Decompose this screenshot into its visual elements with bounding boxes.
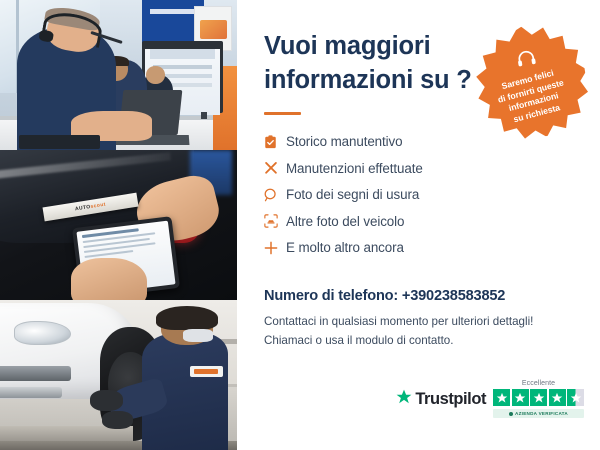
request-info-badge: Saremo felici di fornirti queste informa… xyxy=(466,18,594,146)
contact-subtext: Contattaci in qualsiasi momento per ulte… xyxy=(264,313,578,351)
feature-label: Storico manutentivo xyxy=(286,134,402,149)
trustpilot-wordmark: Trustpilot xyxy=(415,390,486,409)
vehicle-inspection-photo: AUTOscout xyxy=(0,150,237,300)
feature-label: Altre foto del veicolo xyxy=(286,214,404,229)
promo-banner: AUTOscout xyxy=(0,0,600,450)
title-divider xyxy=(264,112,301,115)
plus-icon xyxy=(264,241,286,255)
headline-line-1: Vuoi maggiori xyxy=(264,32,430,60)
trustpilot-widget[interactable]: Trustpilot Eccellente xyxy=(396,380,584,418)
wrench-cross-icon xyxy=(264,161,286,175)
trustpilot-rating-label: Eccellente xyxy=(522,380,555,387)
star-filled-1 xyxy=(493,389,510,406)
contact-subtext-line-1: Contattaci in qualsiasi momento per ulte… xyxy=(264,315,533,328)
feature-label: Foto dei segni di usura xyxy=(286,187,419,202)
call-center-agents-photo xyxy=(0,0,237,150)
feature-item-manutenzioni-effettuate: Manutenzioni effettuate xyxy=(264,155,578,182)
contact-block: Numero di telefono: +390238583852 Contat… xyxy=(264,288,578,351)
trustpilot-star-icon xyxy=(396,389,412,410)
headset-icon xyxy=(515,48,538,73)
mechanic-wheel-photo xyxy=(0,300,237,450)
page-title: Vuoi maggiori informazioni su ? xyxy=(264,30,474,97)
badge-text: Saremo felici di fornirti queste informa… xyxy=(494,66,571,128)
headline-line-2: informazioni su ? xyxy=(264,66,472,94)
phone-line[interactable]: Numero di telefono: +390238583852 xyxy=(264,288,578,304)
feature-label: E molto altro ancora xyxy=(286,240,404,255)
phone-label: Numero di telefono: xyxy=(264,288,398,304)
phone-number[interactable]: +390238583852 xyxy=(402,288,505,304)
trustpilot-logo: Trustpilot xyxy=(396,389,486,410)
feature-list: Storico manutentivo Manutenzioni effettu… xyxy=(264,128,578,261)
trustpilot-stars xyxy=(493,389,584,406)
feature-item-foto-segni-usura: Foto dei segni di usura xyxy=(264,181,578,208)
feature-label: Manutenzioni effettuate xyxy=(286,161,423,176)
trustpilot-verified-badge: AZIENDA VERIFICATA xyxy=(493,409,584,418)
verified-label: AZIENDA VERIFICATA xyxy=(515,411,568,416)
photo-column: AUTOscout xyxy=(0,0,237,450)
star-filled-4 xyxy=(549,389,566,406)
magnifier-icon xyxy=(264,188,286,202)
info-panel: Vuoi maggiori informazioni su ? Saremo f… xyxy=(237,0,600,450)
trustpilot-rating: Eccellente xyxy=(493,380,584,418)
contact-subtext-line-2: Chiamaci o usa il modulo di contatto. xyxy=(264,334,453,347)
star-filled-2 xyxy=(512,389,529,406)
car-scan-icon xyxy=(264,214,286,228)
feature-item-molto-altro: E molto altro ancora xyxy=(264,234,578,261)
verified-check-icon xyxy=(509,412,513,416)
star-filled-3 xyxy=(530,389,547,406)
clipboard-check-icon xyxy=(264,135,286,149)
star-half-5 xyxy=(567,389,584,406)
feature-item-altre-foto-veicolo: Altre foto del veicolo xyxy=(264,208,578,235)
